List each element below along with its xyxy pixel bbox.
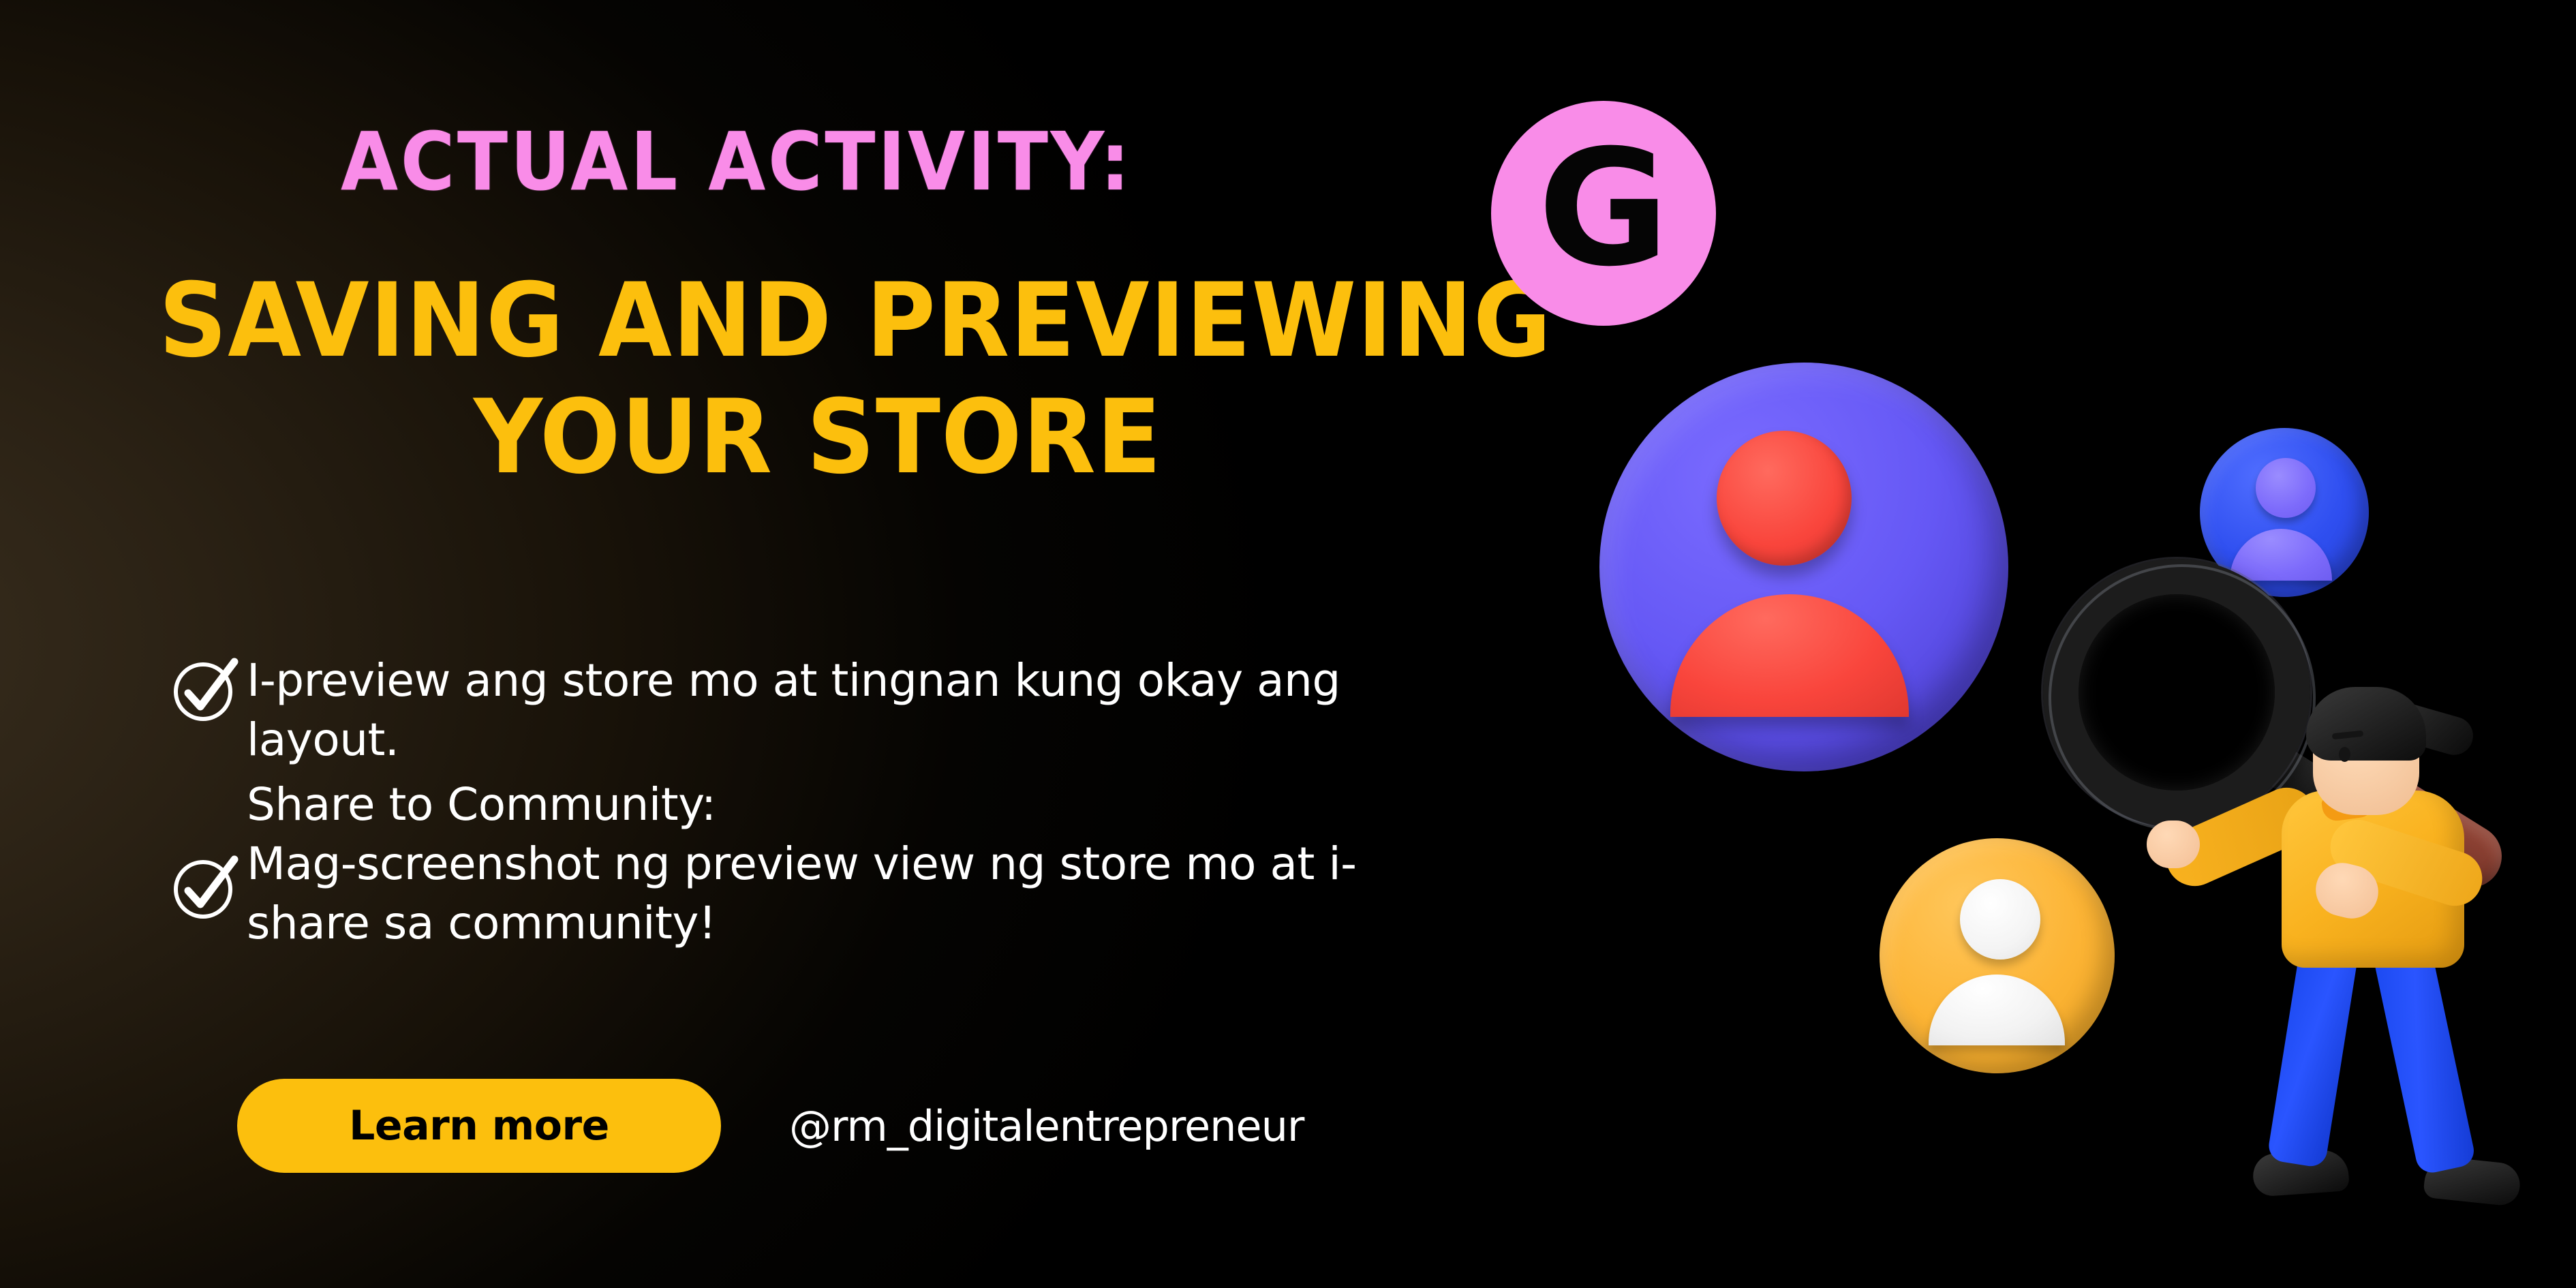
person-eye (2339, 747, 2350, 762)
list-item: Share to Community: Mag-screenshot ng pr… (169, 775, 1586, 953)
avatar-head-shape (1960, 879, 2040, 960)
magnifier-ring (2043, 559, 2310, 826)
person-hand-front (2310, 857, 2384, 924)
avatar-body-shape (2230, 529, 2332, 581)
person-arm-back (2157, 778, 2325, 895)
learn-more-button[interactable]: Learn more (237, 1079, 721, 1173)
page-title: SAVING AND PREVIEWING YOUR STORE (109, 269, 1527, 490)
brand-logo-letter: G (1538, 129, 1670, 289)
magnifier-neck (2263, 745, 2354, 823)
list-item: I-preview ang store mo at tingnan kung o… (169, 651, 1586, 769)
blue-avatar-icon (2200, 428, 2369, 597)
social-handle: @rm_digitalentrepreneur (789, 1101, 1304, 1151)
list-item-label: I-preview ang store mo at tingnan kung o… (240, 651, 1439, 769)
magnifying-glass-icon (2043, 559, 2310, 826)
check-circle-icon (169, 654, 240, 724)
person-torso (2282, 791, 2464, 968)
person-leg-left (2267, 930, 2361, 1168)
list-item-label: Share to Community: Mag-screenshot ng pr… (240, 775, 1439, 953)
person-shoe-left (2252, 1148, 2350, 1197)
headline-line-2: YOUR STORE (159, 386, 1477, 490)
person-arm-front (2323, 812, 2489, 913)
person-hair (2306, 687, 2426, 761)
person-leg-right (2369, 923, 2477, 1176)
brand-logo-g-icon[interactable]: G (1491, 101, 1716, 326)
avatar-head-shape (2256, 458, 2316, 518)
avatar-body-shape (1670, 594, 1909, 717)
person-collar (2321, 793, 2376, 823)
cta-row: Learn more @rm_digitalentrepreneur (237, 1079, 1304, 1173)
magnifier-grip (2313, 741, 2514, 900)
person-head (2313, 698, 2419, 815)
person-ponytail (2393, 702, 2477, 760)
avatar-body-shape (1929, 975, 2065, 1045)
yellow-avatar-icon (1880, 838, 2115, 1073)
person-shoe-right (2423, 1155, 2522, 1207)
avatar-head-shape (1717, 431, 1852, 566)
person-illustration (2242, 675, 2562, 1220)
headline-line-1: SAVING AND PREVIEWING (159, 269, 1477, 373)
check-circle-icon (169, 851, 240, 922)
person-hand-back (2147, 821, 2200, 868)
checklist: I-preview ang store mo at tingnan kung o… (169, 651, 1586, 959)
purple-avatar-icon (1599, 363, 2008, 771)
eyebrow-text: ACTUAL ACTIVITY: (341, 121, 1133, 202)
promo-banner: ACTUAL ACTIVITY: SAVING AND PREVIEWING Y… (0, 0, 2576, 1288)
person-eyebrow (2332, 731, 2364, 740)
